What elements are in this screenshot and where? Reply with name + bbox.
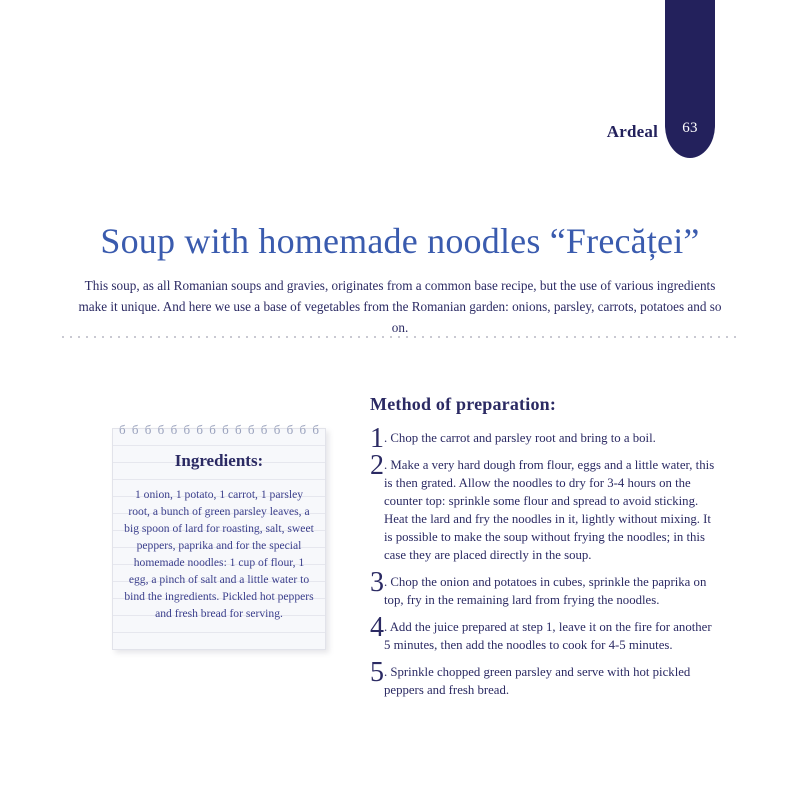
spiral-ring-icon: б bbox=[299, 423, 306, 436]
method-heading: Method of preparation: bbox=[370, 394, 720, 415]
method-steps-list: 1. Chop the carrot and parsley root and … bbox=[370, 429, 720, 699]
ingredients-list-text: 1 onion, 1 potato, 1 carrot, 1 parsley r… bbox=[123, 486, 315, 622]
recipe-intro-text: This soup, as all Romanian soups and gra… bbox=[72, 275, 728, 338]
method-step-number: 3 bbox=[370, 569, 384, 597]
method-step: 5. Sprinkle chopped green parsley and se… bbox=[370, 663, 720, 699]
spiral-ring-icon: б bbox=[171, 423, 178, 436]
ingredients-card: бббббббббббббббб Ingredients: 1 onion, 1… bbox=[112, 428, 326, 650]
chapter-tab: 63 bbox=[665, 0, 715, 158]
chapter-name-label: Ardeal bbox=[607, 122, 658, 142]
method-step: 1. Chop the carrot and parsley root and … bbox=[370, 429, 720, 447]
spiral-ring-icon: б bbox=[222, 423, 229, 436]
spiral-ring-icon: б bbox=[261, 423, 268, 436]
method-step-text: . Add the juice prepared at step 1, leav… bbox=[384, 618, 720, 654]
method-step-number: 2 bbox=[370, 452, 384, 480]
spiral-ring-icon: б bbox=[287, 423, 294, 436]
method-step-text: . Chop the onion and potatoes in cubes, … bbox=[384, 573, 720, 609]
spiral-ring-icon: б bbox=[274, 423, 281, 436]
page-title: Soup with homemade noodles “Frecăței” bbox=[0, 220, 800, 262]
spiral-ring-icon: б bbox=[183, 423, 190, 436]
ingredients-heading: Ingredients: bbox=[113, 451, 325, 471]
spiral-binding-icon: бббббббббббббббб bbox=[119, 423, 319, 439]
spiral-ring-icon: б bbox=[248, 423, 255, 436]
spiral-ring-icon: б bbox=[235, 423, 242, 436]
method-step-text: . Make a very hard dough from flour, egg… bbox=[384, 456, 720, 564]
method-step-number: 1 bbox=[370, 425, 384, 453]
spiral-ring-icon: б bbox=[145, 423, 152, 436]
method-section: Method of preparation: 1. Chop the carro… bbox=[370, 394, 720, 708]
method-step-text: . Chop the carrot and parsley root and b… bbox=[384, 429, 720, 447]
method-step: 2. Make a very hard dough from flour, eg… bbox=[370, 456, 720, 564]
method-step: 4. Add the juice prepared at step 1, lea… bbox=[370, 618, 720, 654]
method-step: 3. Chop the onion and potatoes in cubes,… bbox=[370, 573, 720, 609]
spiral-ring-icon: б bbox=[132, 423, 139, 436]
spiral-ring-icon: б bbox=[312, 423, 319, 436]
method-step-text: . Sprinkle chopped green parsley and ser… bbox=[384, 663, 720, 699]
method-step-number: 4 bbox=[370, 614, 384, 642]
section-divider bbox=[62, 336, 736, 338]
method-step-number: 5 bbox=[370, 659, 384, 687]
spiral-ring-icon: б bbox=[196, 423, 203, 436]
page-number: 63 bbox=[665, 120, 715, 137]
spiral-ring-icon: б bbox=[119, 423, 126, 436]
spiral-ring-icon: б bbox=[158, 423, 165, 436]
spiral-ring-icon: б bbox=[209, 423, 216, 436]
